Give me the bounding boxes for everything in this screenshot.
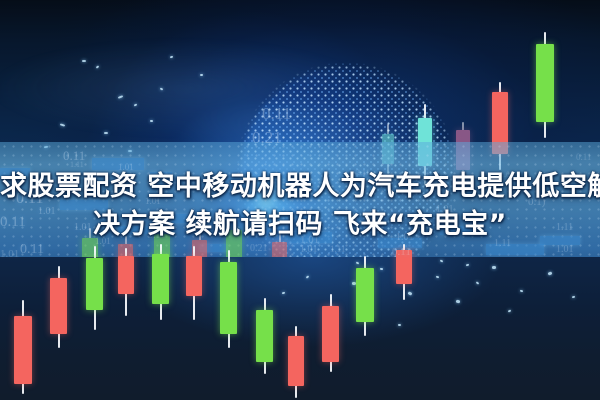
floating-number: 0.11	[392, 246, 411, 258]
floating-number: 0.11	[20, 242, 44, 258]
headline-block: 求股票配资 空中移动机器人为汽车充电提供低空解 决方案 续航请扫码 飞来“充电宝…	[0, 168, 600, 244]
floating-number: 1.11	[330, 244, 345, 254]
banner-image: 0.110.210.111.011.110.111.010.111.011.01…	[0, 0, 600, 400]
floating-number: 0.11	[63, 148, 85, 164]
floating-number: 1.01	[300, 244, 318, 255]
floating-number: 1.01	[0, 248, 19, 260]
floating-number: 1.01	[556, 244, 574, 255]
floating-number: 0.11	[576, 152, 591, 162]
floating-number: 0.21	[250, 243, 268, 254]
floating-number: 0.11	[262, 104, 291, 124]
headline-line-2: 决方案 续航请扫码 飞来“充电宝”	[0, 206, 600, 244]
floating-number: 0.21	[252, 128, 282, 148]
headline-line-1: 求股票配资 空中移动机器人为汽车充电提供低空解	[0, 168, 600, 206]
